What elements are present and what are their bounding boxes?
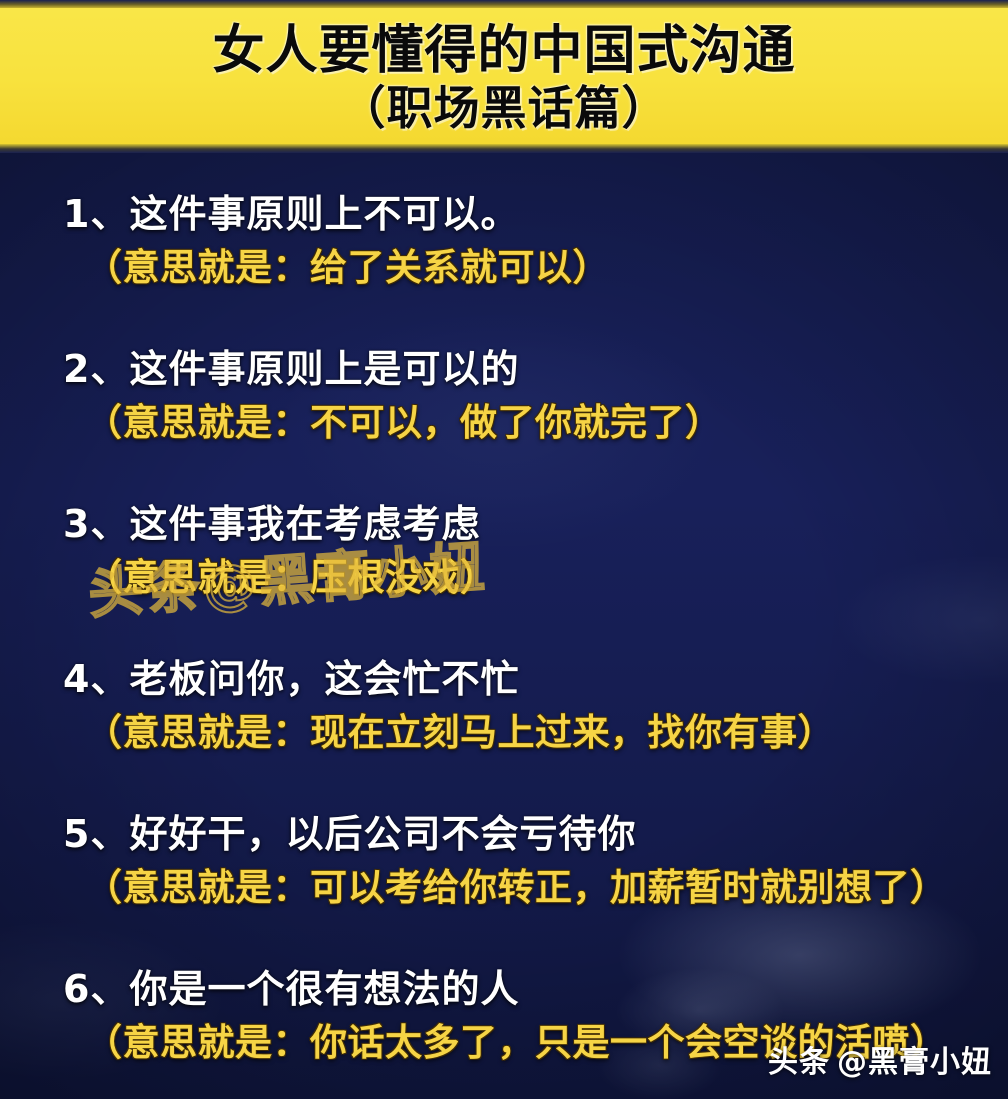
list-item: 5、好好干，以后公司不会亏待你 （意思就是：可以考给你转正，加薪暂时就别想了）: [0, 773, 1008, 928]
item-meaning-text: （意思就是：现在立刻马上过来，找你有事）: [85, 702, 835, 756]
banner-under-strip: [0, 144, 1008, 153]
item-main-text: 2、这件事原则上是可以的: [63, 338, 519, 393]
list-item: 1、这件事原则上不可以。 （意思就是：给了关系就可以）: [0, 153, 1008, 308]
list-item: 6、你是一个很有想法的人 （意思就是：你话太多了，只是一个会空谈的活喷）: [0, 928, 1008, 1083]
item-main-text: 5、好好干，以后公司不会亏待你: [63, 803, 636, 858]
list-item: 4、老板问你，这会忙不忙 （意思就是：现在立刻马上过来，找你有事）: [0, 618, 1008, 773]
phrase-list: 1、这件事原则上不可以。 （意思就是：给了关系就可以） 2、这件事原则上是可以的…: [0, 153, 1008, 1083]
title-banner: 女人要懂得的中国式沟通 （职场黑话篇）: [0, 8, 1008, 148]
poster-page: 女人要懂得的中国式沟通 （职场黑话篇） 1、这件事原则上不可以。 （意思就是：给…: [0, 0, 1008, 1099]
item-meaning-text: （意思就是：不可以，做了你就完了）: [85, 392, 723, 446]
list-item: 2、这件事原则上是可以的 （意思就是：不可以，做了你就完了）: [0, 308, 1008, 463]
item-main-text: 6、你是一个很有想法的人: [63, 958, 519, 1013]
item-main-text: 3、这件事我在考虑考虑: [63, 493, 480, 548]
title-line-1: 女人要懂得的中国式沟通: [212, 25, 795, 77]
item-main-text: 1、这件事原则上不可以。: [63, 183, 519, 238]
top-edge-strip: [0, 0, 1008, 8]
item-meaning-text: （意思就是：给了关系就可以）: [85, 237, 610, 291]
item-meaning-text: （意思就是：可以考给你转正，加薪暂时就别想了）: [85, 857, 948, 911]
title-line-2: （职场黑话篇）: [340, 85, 669, 131]
item-main-text: 4、老板问你，这会忙不忙: [63, 648, 519, 703]
item-meaning-text: （意思就是：压根没戏）: [85, 547, 498, 601]
list-item: 3、这件事我在考虑考虑 （意思就是：压根没戏）: [0, 463, 1008, 618]
item-meaning-text: （意思就是：你话太多了，只是一个会空谈的活喷）: [85, 1012, 948, 1066]
